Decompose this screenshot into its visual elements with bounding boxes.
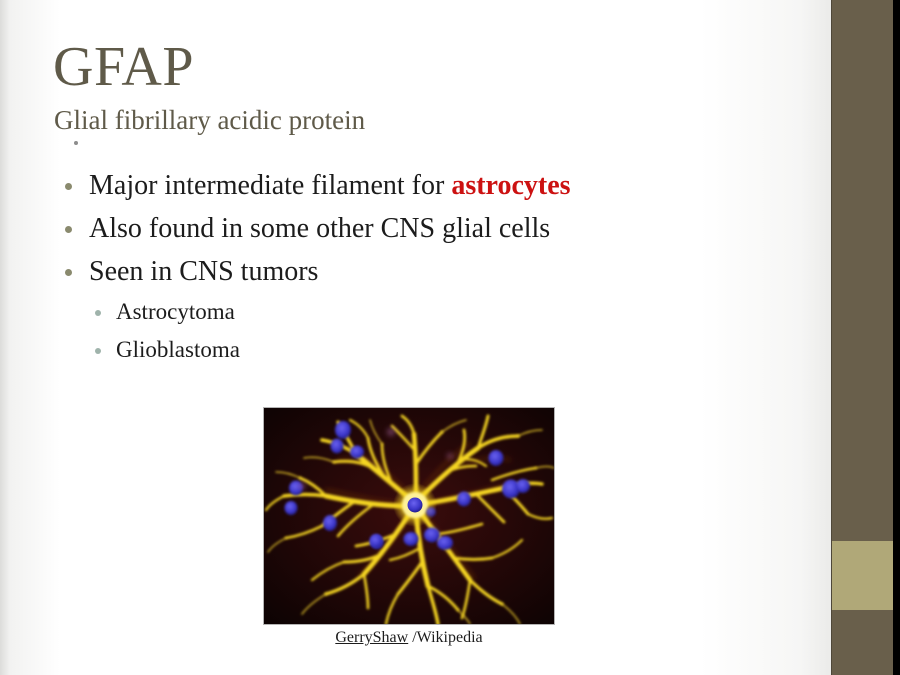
slide-canvas: GFAP Glial fibrillary acidic protein Maj… bbox=[0, 0, 900, 675]
viewport-right-edge bbox=[893, 0, 900, 675]
bullet-list: Major intermediate filament for astrocyt… bbox=[0, 164, 780, 369]
figure-caption: GerryShaw /Wikipedia bbox=[183, 629, 635, 647]
slide-title: GFAP bbox=[53, 36, 194, 98]
sub-bullet-dot-icon bbox=[95, 348, 101, 354]
bullet-dot-icon bbox=[65, 226, 72, 233]
bullet-item-2: Also found in some other CNS glial cells bbox=[0, 207, 780, 250]
figure-caption-source: /Wikipedia bbox=[408, 629, 482, 646]
stray-dot-artifact bbox=[74, 141, 78, 145]
bullet-item-3-text: Seen in CNS tumors bbox=[89, 256, 318, 287]
astrocyte-immunofluorescence-image bbox=[263, 407, 555, 625]
bullet-item-1: Major intermediate filament for astrocyt… bbox=[0, 164, 780, 207]
bullet-item-3: Seen in CNS tumors bbox=[0, 250, 780, 293]
sub-bullet-item-1-text: Astrocytoma bbox=[116, 299, 235, 324]
figure-block: GerryShaw /Wikipedia bbox=[263, 407, 555, 625]
figure-caption-link[interactable]: GerryShaw bbox=[335, 629, 408, 646]
slide-right-band bbox=[831, 0, 894, 675]
slide-subtitle: Glial fibrillary acidic protein bbox=[54, 104, 365, 136]
bullet-item-1-text: Major intermediate filament for bbox=[89, 170, 451, 201]
sub-bullet-item-2: Glioblastoma bbox=[0, 331, 780, 369]
bullet-item-1-highlight: astrocytes bbox=[451, 170, 570, 201]
sub-bullet-item-1: Astrocytoma bbox=[0, 293, 780, 331]
sub-bullet-dot-icon bbox=[95, 310, 101, 316]
bullet-dot-icon bbox=[65, 269, 72, 276]
bullet-item-2-text: Also found in some other CNS glial cells bbox=[89, 213, 550, 244]
bullet-dot-icon bbox=[65, 183, 72, 190]
sub-bullet-item-2-text: Glioblastoma bbox=[116, 337, 240, 362]
slide-right-band-accent bbox=[832, 541, 894, 610]
